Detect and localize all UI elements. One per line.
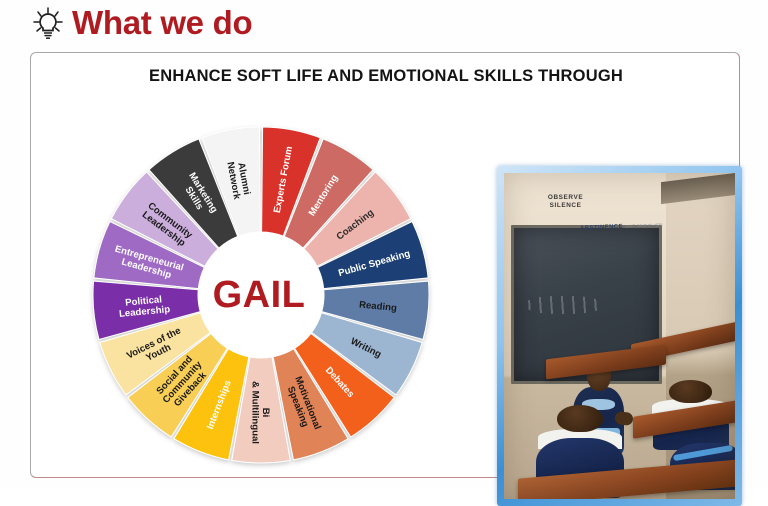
slide-header: What we do <box>0 0 768 52</box>
sign-abstinence-main: ABSTINENCE <box>580 223 623 231</box>
photo-desks <box>504 343 735 499</box>
svg-text:& Multilingual: & Multilingual <box>249 381 260 444</box>
wheel-svg: Experts ForumMentoringCoachingPublic Spe… <box>71 113 451 473</box>
slide-canvas: What we do ENHANCE SOFT LIFE AND EMOTION… <box>0 0 768 488</box>
content-card: ENHANCE SOFT LIFE AND EMOTIONAL SKILLS T… <box>30 52 740 478</box>
sign-abstinence-sub: WAIT. SAVE IT. YES! <box>625 222 663 229</box>
lightbulb-icon <box>28 4 68 44</box>
card-heading: ENHANCE SOFT LIFE AND EMOTIONAL SKILLS T… <box>31 67 741 86</box>
svg-text:Bi: Bi <box>260 408 271 418</box>
sign-observe-line2: SILENCE <box>548 202 583 210</box>
gail-wheel-diagram: Experts ForumMentoringCoachingPublic Spe… <box>71 113 451 473</box>
page-title: What we do <box>72 0 252 46</box>
desk-middle <box>546 345 666 380</box>
classroom-photo: OBSERVE SILENCE ABSTINENCE WAIT. SAVE IT… <box>504 173 735 499</box>
student-head <box>669 380 711 403</box>
wheel-hub <box>198 232 324 358</box>
student-head <box>557 405 603 432</box>
photo-chalk-writing <box>526 296 602 314</box>
photo-sign-observe-silence: OBSERVE SILENCE <box>548 194 583 210</box>
sign-observe-line1: OBSERVE <box>548 194 583 202</box>
classroom-photo-frame: OBSERVE SILENCE ABSTINENCE WAIT. SAVE IT… <box>497 166 742 506</box>
